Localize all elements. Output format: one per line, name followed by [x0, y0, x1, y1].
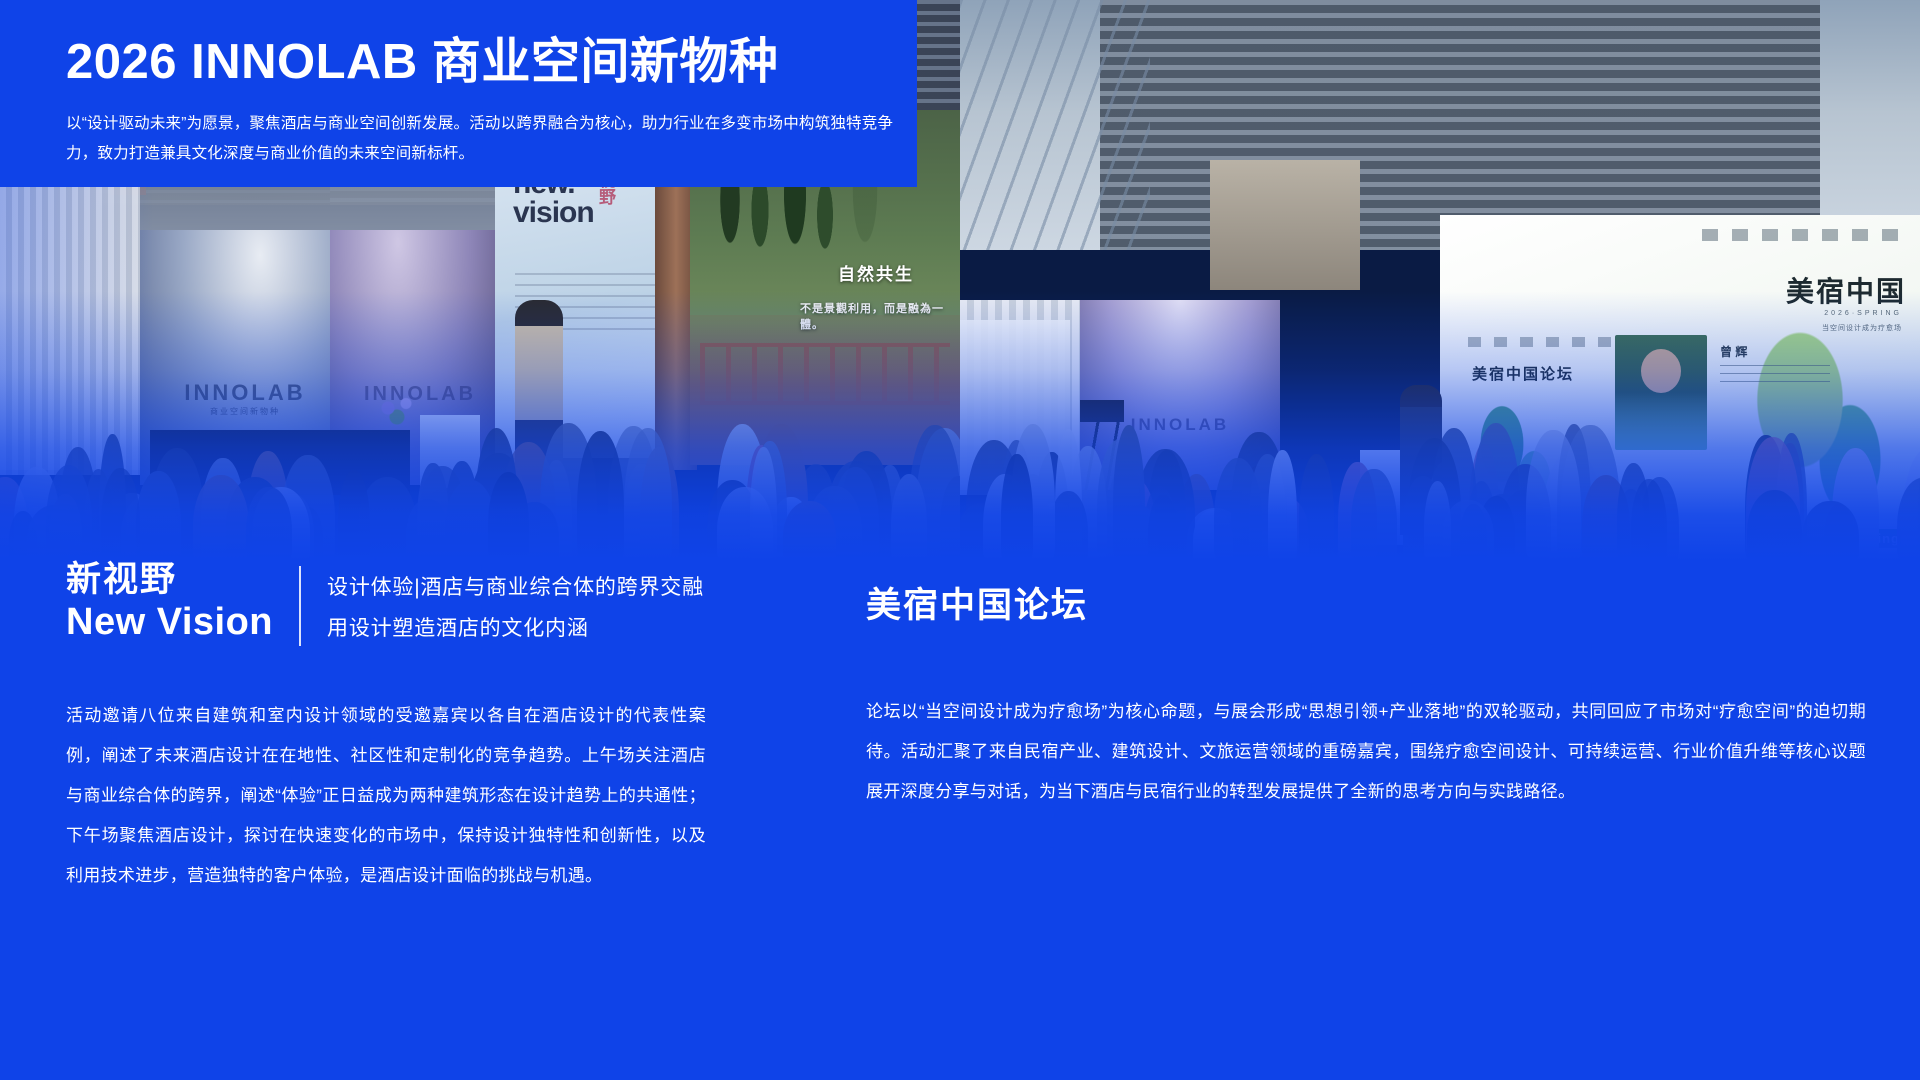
photo-right-meisu-forum: 美宿中国 2026·SPRING 当空间设计成为疗愈场 美宿中国论坛 曾 辉 H…	[960, 0, 1920, 560]
audience-member	[101, 468, 140, 560]
audience-member	[1351, 469, 1396, 560]
audience-member	[1802, 501, 1859, 560]
audience-right	[960, 370, 1920, 560]
hero-description: 以“设计驱动未来”为愿景，聚焦酒店与商业空间创新发展。活动以跨界融合为核心，助力…	[66, 109, 904, 169]
section-heading-meisu: 美宿中国论坛	[866, 560, 1866, 626]
audience-member	[406, 499, 448, 560]
section-body-meisu: 论坛以“当空间设计成为疗愈场”为核心命题，与展会形成“思想引领+产业落地”的双轮…	[866, 692, 1866, 812]
audience-member	[1617, 463, 1650, 560]
sections-area: 新视野 New Vision 设计体验|酒店与商业综合体的跨界交融 用设计塑造酒…	[0, 560, 1920, 1080]
audience-member	[717, 487, 773, 560]
hall-louvre-right	[1100, 0, 1820, 250]
audience-member	[1268, 450, 1297, 560]
section-heading-cn: 新视野	[66, 560, 273, 600]
section-new-vision: 新视野 New Vision 设计体验|酒店与商业综合体的跨界交融 用设计塑造酒…	[66, 560, 706, 896]
tagline-line-2: 用设计塑造酒店的文化内涵	[327, 609, 704, 650]
page-title: 2026 INNOLAB 商业空间新物种	[66, 38, 917, 87]
screen-en-line2: vision	[513, 196, 594, 229]
audience-member	[246, 487, 291, 560]
audience-left	[0, 370, 960, 560]
audience-member	[1299, 454, 1334, 560]
big-screen-subline: 不是景觀利用，而是融為一體。	[800, 300, 960, 332]
speaker-name: 曾 辉	[1720, 343, 1747, 360]
roof-beams	[960, 0, 1150, 250]
audience-member	[338, 470, 371, 560]
audience-member	[1897, 478, 1920, 560]
section-meisu-forum: 美宿中国论坛 论坛以“当空间设计成为疗愈场”为核心命题，与展会形成“思想引领+产…	[866, 560, 1866, 812]
sponsor-logo-strip-2	[1468, 337, 1618, 347]
big-screen-headline: 自然共生	[838, 260, 914, 285]
heading-divider	[299, 566, 301, 646]
audience-member	[193, 475, 249, 560]
section-heading-en: New Vision	[66, 600, 273, 646]
section-header-new-vision: 新视野 New Vision 设计体验|酒店与商业综合体的跨界交融 用设计塑造酒…	[66, 560, 706, 650]
audience-member	[789, 508, 815, 560]
audience-member	[1148, 495, 1177, 560]
hero-banner: 2026 INNOLAB 商业空间新物种 以“设计驱动未来”为愿景，聚焦酒店与商…	[0, 0, 917, 187]
section-taglines: 设计体验|酒店与商业综合体的跨界交融 用设计塑造酒店的文化内涵	[327, 560, 704, 650]
audience-member	[1747, 490, 1802, 560]
audience-member	[1113, 425, 1145, 560]
audience-member	[624, 428, 672, 560]
section-body-new-vision: 活动邀请八位来自建筑和室内设计领域的受邀嘉宾以各自在酒店设计的代表性案例，阐述了…	[66, 696, 706, 896]
concrete-column	[1210, 160, 1360, 290]
backdrop-title: 美宿中国	[1786, 270, 1906, 310]
section-heading-block: 新视野 New Vision	[66, 560, 273, 646]
sponsor-logo-strip	[1702, 229, 1902, 241]
audience-member	[1460, 504, 1486, 560]
tagline-line-1: 设计体验|酒店与商业综合体的跨界交融	[327, 568, 704, 609]
